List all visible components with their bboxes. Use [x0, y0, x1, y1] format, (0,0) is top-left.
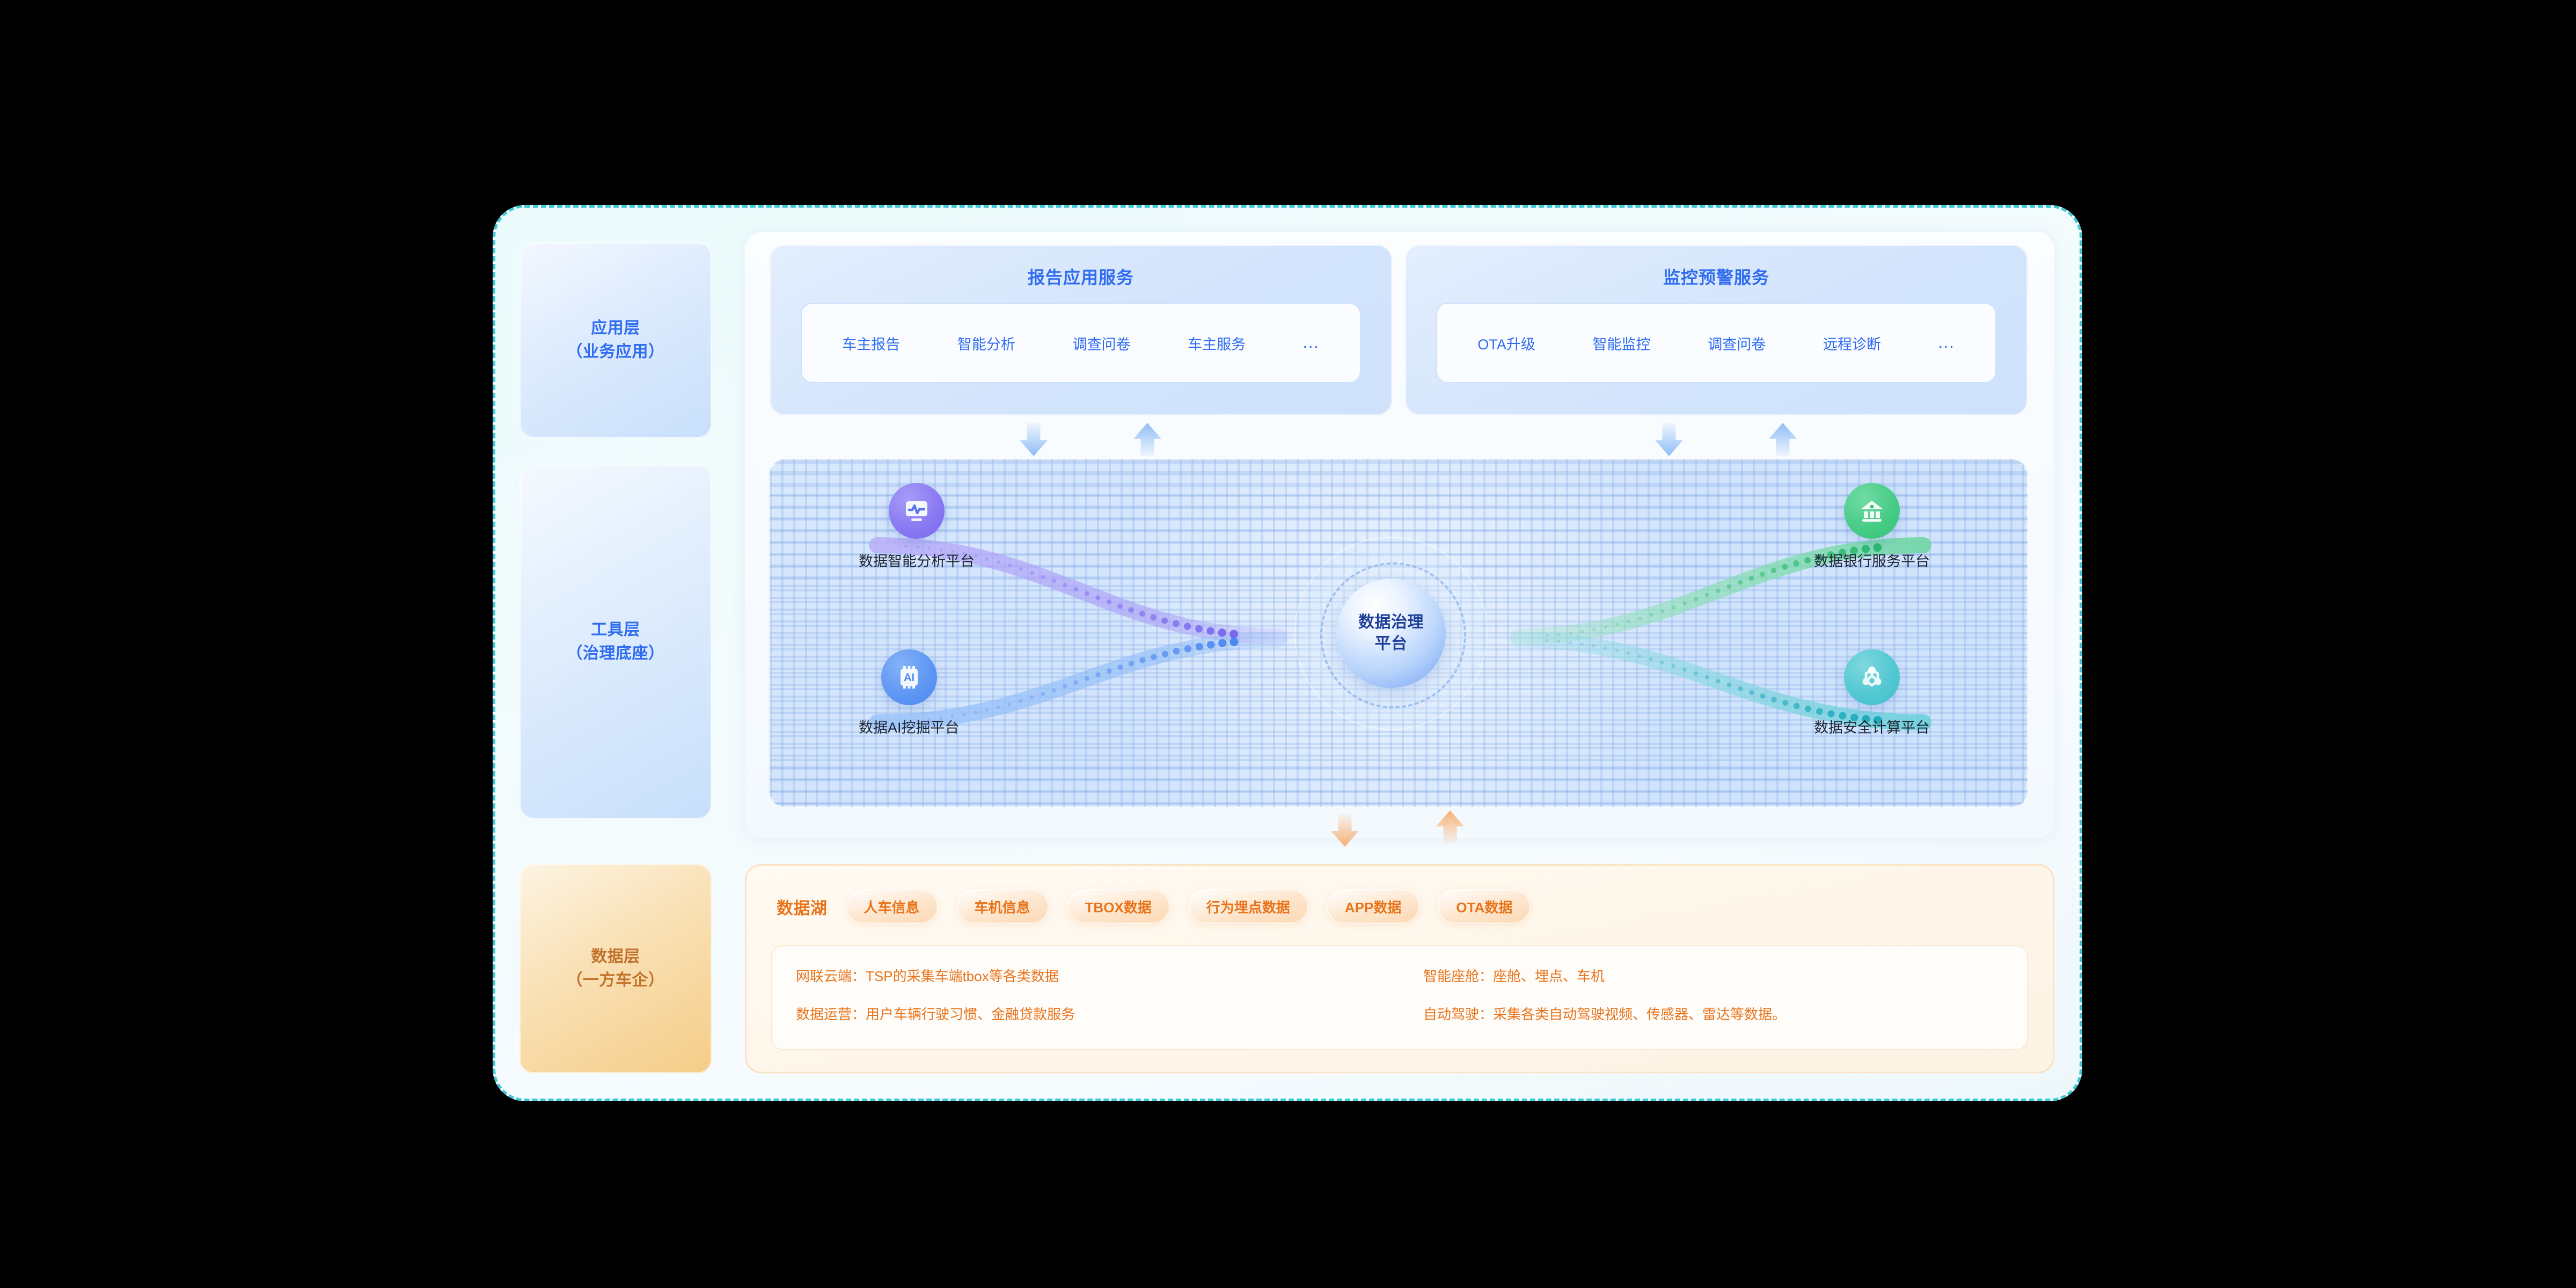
hub-core: 数据治理 平台: [1336, 579, 1446, 688]
data-lake-details: 网联云端：TSP的采集车端tbox等各类数据 数据运营：用户车辆行驶习惯、金融贷…: [771, 945, 2028, 1050]
service-tag[interactable]: 车主报告: [842, 333, 900, 354]
hub-label-line1: 数据治理: [1358, 612, 1424, 633]
service-tag[interactable]: 车主服务: [1188, 333, 1246, 354]
diagram-canvas: 应用层（业务应用） 工具层（治理底座） 数据层（一方车企） 报告应用服务 车主报…: [0, 0, 2576, 1288]
platform-node-bank[interactable]: 数据银行服务平台: [1814, 483, 1930, 570]
arrow-down-orange-icon: [1331, 814, 1359, 847]
data-lake-title: 数据湖: [777, 895, 828, 919]
layer-box-tool: 工具层（治理底座）: [519, 465, 712, 819]
layer-label-data: 数据层（一方车企）: [567, 945, 665, 993]
ai-chip-icon: AI: [881, 649, 937, 705]
service-tag-row: OTA升级 智能监控 调查问卷 远程诊断 ...: [1436, 303, 1996, 383]
arrow-up-icon: [1769, 423, 1797, 456]
data-lake-details-right: 智能座舱：座舱、埋点、车机 自动驾驶：采集各类自动驾驶视频、传感器、雷达等数据。: [1400, 946, 2027, 1049]
service-tag[interactable]: 智能分析: [957, 333, 1015, 354]
data-lake-detail-line: 智能座舱：座舱、埋点、车机: [1423, 965, 2027, 985]
arrow-up-icon: [1133, 423, 1161, 456]
service-tag[interactable]: 远程诊断: [1823, 333, 1881, 354]
service-card-title: 报告应用服务: [770, 264, 1392, 289]
data-lake-tag[interactable]: 行为埋点数据: [1188, 889, 1308, 924]
hub-label-line2: 平台: [1375, 633, 1408, 655]
data-lake-panel: 数据湖 人车信息 车机信息 TBOX数据 行为埋点数据 APP数据 OTA数据 …: [745, 864, 2054, 1073]
platform-node-analysis[interactable]: 数据智能分析平台: [859, 483, 975, 570]
data-lake-tag[interactable]: APP数据: [1327, 889, 1419, 924]
service-card-monitor[interactable]: 监控预警服务 OTA升级 智能监控 调查问卷 远程诊断 ...: [1405, 245, 2028, 415]
central-hub[interactable]: 数据治理 平台: [1294, 537, 1488, 730]
platform-label: 数据安全计算平台: [1814, 716, 1930, 737]
data-lake-detail-line: 数据运营：用户车辆行驶习惯、金融贷款服务: [796, 1004, 1400, 1023]
platform-label: 数据银行服务平台: [1814, 550, 1930, 570]
data-lake-detail-line: 网联云端：TSP的采集车端tbox等各类数据: [796, 965, 1400, 985]
service-tag[interactable]: 智能监控: [1593, 333, 1651, 354]
monitor-pulse-icon: [889, 483, 945, 539]
data-lake-tag[interactable]: 人车信息: [846, 889, 938, 924]
arrow-down-icon: [1655, 423, 1683, 456]
service-tag-more[interactable]: ...: [1938, 334, 1955, 352]
service-tag[interactable]: 调查问卷: [1708, 333, 1766, 354]
arrow-down-icon: [1020, 423, 1048, 456]
svg-text:AI: AI: [904, 672, 914, 684]
layer-box-application: 应用层（业务应用）: [519, 243, 712, 438]
data-lake-tag[interactable]: 车机信息: [956, 889, 1049, 924]
network-nodes-icon: [1844, 649, 1900, 705]
platform-node-ai[interactable]: AI 数据AI挖掘平台: [859, 649, 960, 737]
arrow-up-orange-icon: [1436, 810, 1464, 844]
service-card-title: 监控预警服务: [1405, 264, 2028, 289]
service-tag[interactable]: OTA升级: [1477, 333, 1535, 354]
layer-box-data: 数据层（一方车企）: [519, 864, 712, 1073]
data-lake-detail-line: 自动驾驶：采集各类自动驾驶视频、传感器、雷达等数据。: [1423, 1004, 2027, 1023]
data-lake-tag[interactable]: TBOX数据: [1067, 889, 1170, 924]
layer-label-application: 应用层（业务应用）: [567, 317, 665, 364]
service-card-report[interactable]: 报告应用服务 车主报告 智能分析 调查问卷 车主服务 ...: [770, 245, 1392, 415]
platform-node-security[interactable]: 数据安全计算平台: [1814, 649, 1930, 737]
service-tag[interactable]: 调查问卷: [1072, 333, 1130, 354]
data-lake-tag[interactable]: OTA数据: [1438, 889, 1531, 924]
platform-label: 数据智能分析平台: [859, 550, 975, 570]
service-tag-more[interactable]: ...: [1303, 334, 1320, 352]
data-lake-header: 数据湖 人车信息 车机信息 TBOX数据 行为埋点数据 APP数据 OTA数据: [777, 889, 2031, 924]
data-lake-details-left: 网联云端：TSP的采集车端tbox等各类数据 数据运营：用户车辆行驶习惯、金融贷…: [772, 946, 1400, 1049]
bank-building-icon: [1844, 483, 1900, 539]
layer-label-tool: 工具层（治理底座）: [567, 618, 665, 666]
platform-label: 数据AI挖掘平台: [859, 716, 960, 737]
service-tag-row: 车主报告 智能分析 调查问卷 车主服务 ...: [801, 303, 1361, 383]
